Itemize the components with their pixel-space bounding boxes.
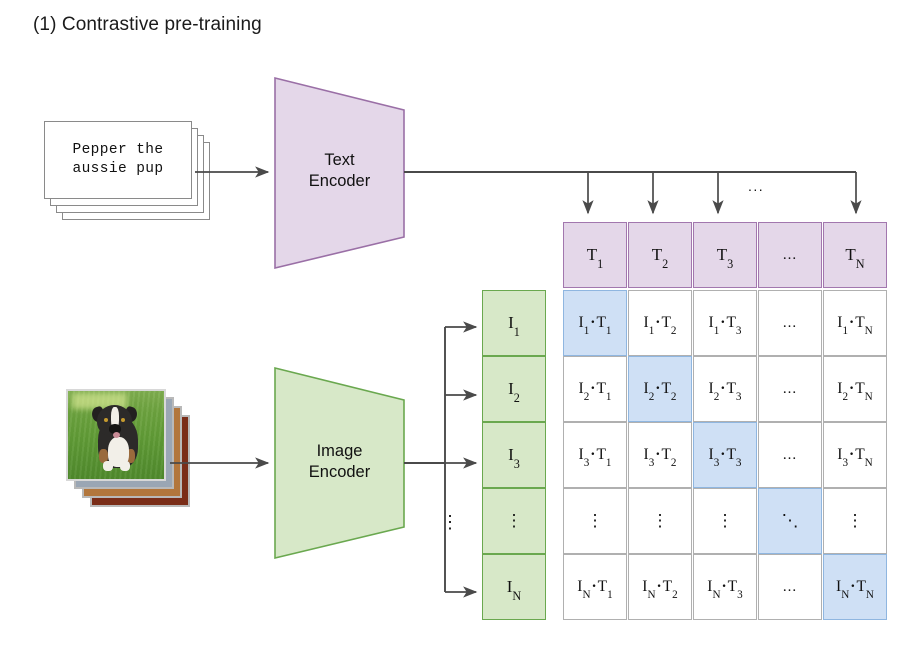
cell-label: T3 (717, 245, 734, 265)
cell-label: IN·T1 (577, 578, 612, 596)
similarity-cell-r1-c1: I1·T1 (563, 290, 627, 356)
image-embedding-cell-1: I1 (482, 290, 546, 356)
cell-label: I2·T2 (644, 380, 677, 398)
text-embedding-cell-1: T1 (563, 222, 627, 288)
similarity-cell-r4-c5: ⋮ (823, 488, 887, 554)
similarity-cell-r5-c5: IN·TN (823, 554, 887, 620)
image-embedding-cell-2: I2 (482, 356, 546, 422)
cell-label: IN (507, 577, 522, 597)
similarity-cell-r5-c4: ... (758, 554, 822, 620)
image-encoder-line-1: Image (275, 441, 404, 462)
text-embedding-cell-2: T2 (628, 222, 692, 288)
cell-label: I3 (508, 445, 520, 465)
cell-label: I1 (508, 313, 520, 333)
similarity-cell-r3-c5: I3·TN (823, 422, 887, 488)
similarity-cell-r5-c3: IN·T3 (693, 554, 757, 620)
similarity-cell-r5-c1: IN·T1 (563, 554, 627, 620)
similarity-cell-r3-c3: I3·T3 (693, 422, 757, 488)
similarity-cell-r1-c5: I1·TN (823, 290, 887, 356)
cell-label: IN·T2 (642, 578, 677, 596)
similarity-cell-r5-c2: IN·T2 (628, 554, 692, 620)
similarity-cell-r4-c3: ⋮ (693, 488, 757, 554)
text-encoder-line-2: Encoder (275, 171, 404, 192)
cell-ellipsis: ⋱ (782, 511, 799, 531)
similarity-cell-r3-c4: ... (758, 422, 822, 488)
image-embedding-cell-4: ⋮ (482, 488, 546, 554)
puppy-eye-right (121, 418, 125, 422)
text-embedding-cell-3: T3 (693, 222, 757, 288)
cell-ellipsis: ... (783, 579, 797, 596)
image-embedding-cell-3: I3 (482, 422, 546, 488)
similarity-cell-r1-c2: I1·T2 (628, 290, 692, 356)
puppy-paw-right (120, 461, 130, 471)
cell-label: I3·T1 (579, 446, 612, 464)
similarity-cell-r2-c1: I2·T1 (563, 356, 627, 422)
page-title: (1) Contrastive pre-training (33, 14, 262, 36)
cell-ellipsis: ⋮ (652, 511, 669, 531)
similarity-cell-r4-c2: ⋮ (628, 488, 692, 554)
similarity-cell-r1-c3: I1·T3 (693, 290, 757, 356)
similarity-cell-r2-c3: I2·T3 (693, 356, 757, 422)
cell-ellipsis: ⋮ (847, 511, 864, 531)
similarity-cell-r4-c4: ⋱ (758, 488, 822, 554)
image-bus-ellipsis: ⋮ (441, 513, 459, 531)
similarity-cell-r2-c4: ... (758, 356, 822, 422)
cell-label: I2·TN (837, 380, 872, 398)
cell-ellipsis: ⋮ (717, 511, 734, 531)
similarity-cell-r4-c1: ⋮ (563, 488, 627, 554)
puppy-eye-left (104, 418, 108, 422)
cell-label: I1·T3 (709, 314, 742, 332)
text-bus-ellipsis: ... (748, 178, 764, 194)
puppy-paw-left (103, 461, 113, 471)
cell-label: I2 (508, 379, 520, 399)
image-card-front-puppy-photo (66, 389, 166, 481)
cell-label: I1·T2 (644, 314, 677, 332)
cell-label: T1 (587, 245, 604, 265)
cell-ellipsis: ... (783, 447, 797, 464)
puppy-tongue (113, 432, 120, 438)
caption-line-2: aussie pup (72, 160, 163, 179)
text-embedding-cell-5: TN (823, 222, 887, 288)
cell-label: T2 (652, 245, 669, 265)
cell-label: IN·T3 (707, 578, 742, 596)
similarity-cell-r2-c5: I2·TN (823, 356, 887, 422)
cell-ellipsis: ⋮ (587, 511, 604, 531)
caption-line-1: Pepper the (72, 141, 163, 160)
image-embedding-cell-5: IN (482, 554, 546, 620)
cell-label: IN·TN (836, 578, 874, 596)
cell-ellipsis: ... (783, 315, 797, 332)
cell-ellipsis: ... (783, 247, 797, 264)
text-card-caption: Pepper the aussie pup (44, 121, 192, 199)
cell-label: I2·T3 (709, 380, 742, 398)
similarity-cell-r2-c2: I2·T2 (628, 356, 692, 422)
cell-label: I3·T3 (709, 446, 742, 464)
text-embedding-cell-4: ... (758, 222, 822, 288)
similarity-cell-r1-c4: ... (758, 290, 822, 356)
cell-label: I3·T2 (644, 446, 677, 464)
cell-label: I1·T1 (579, 314, 612, 332)
cell-label: I3·TN (837, 446, 872, 464)
image-encoder-line-2: Encoder (275, 462, 404, 483)
text-encoder-line-1: Text (275, 150, 404, 171)
cell-ellipsis: ... (783, 381, 797, 398)
diagram-canvas: (1) Contrastive pre-training Pepper the … (0, 0, 906, 654)
cell-ellipsis: ⋮ (506, 511, 523, 531)
cell-label: I2·T1 (579, 380, 612, 398)
cell-label: TN (845, 245, 864, 265)
cell-label: I1·TN (837, 314, 872, 332)
similarity-cell-r3-c2: I3·T2 (628, 422, 692, 488)
similarity-cell-r3-c1: I3·T1 (563, 422, 627, 488)
